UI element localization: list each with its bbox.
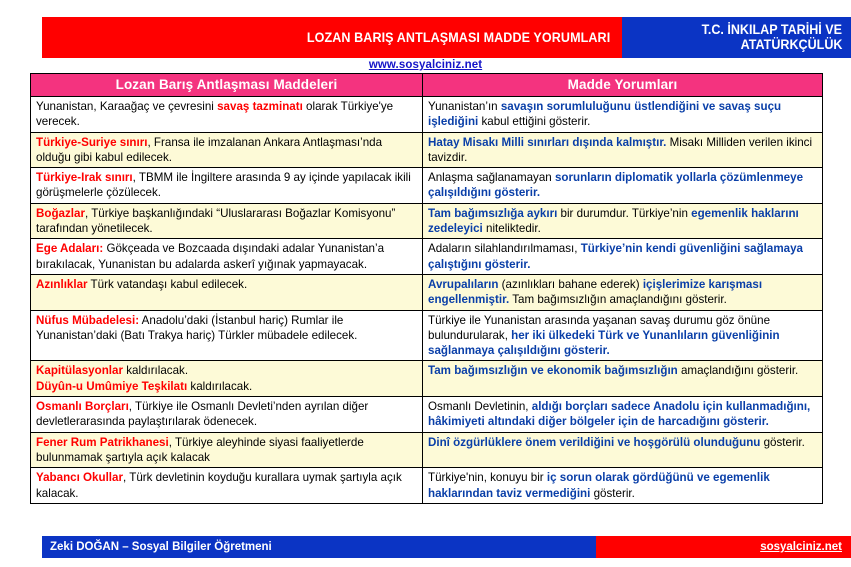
- article-cell-8: Kapitülasyonlar kaldırılacak.Düyûn-u Umû…: [31, 361, 423, 397]
- comment-10-seg-1: gösterir.: [760, 436, 804, 449]
- article-8-seg-0: Kapitülasyonlar: [36, 364, 123, 377]
- article-6-seg-1: Türk vatandaşı kabul edilecek.: [88, 278, 248, 291]
- comment-10-seg-0: Dinî özgürlüklere önem verildiğini ve ho…: [428, 436, 760, 449]
- table-row: Türkiye-Irak sınırı, TBMM ile İngiltere …: [31, 168, 823, 204]
- comment-cell-11: Türkiye'nin, konuyu bir iç sorun olarak …: [423, 468, 823, 504]
- comment-6-seg-3: Tam bağımsızlığın amaçlandığını gösterir…: [509, 293, 727, 306]
- article-2-seg-0: Türkiye-Suriye sınırı: [36, 136, 147, 149]
- comment-cell-10: Dinî özgürlüklere önem verildiğini ve ho…: [423, 432, 823, 468]
- banner-left-red: LOZAN BARIŞ ANTLAŞMASI MADDE YORUMLARI: [42, 17, 622, 58]
- column-header-articles: Lozan Barış Antlaşması Maddeleri: [31, 74, 423, 97]
- article-4-seg-0: Boğazlar: [36, 207, 85, 220]
- comment-cell-9: Osmanlı Devletinin, aldığı borçları sade…: [423, 397, 823, 433]
- article-8-seg-1: kaldırılacak.: [123, 364, 188, 377]
- article-6-seg-0: Azınlıklar: [36, 278, 88, 291]
- article-cell-4: Boğazlar, Türkiye başkanlığındaki “Ulusl…: [31, 203, 423, 239]
- table-row: Kapitülasyonlar kaldırılacak.Düyûn-u Umû…: [31, 361, 823, 397]
- comment-cell-7: Türkiye ile Yunanistan arasında yaşanan …: [423, 310, 823, 361]
- table-row: Türkiye-Suriye sınırı, Fransa ile imzala…: [31, 132, 823, 168]
- article-cell-7: Nüfus Mübadelesi: Anadolu’daki (İstanbul…: [31, 310, 423, 361]
- article-9-seg-0: Osmanlı Borçları: [36, 400, 129, 413]
- comment-11-seg-0: Türkiye'nin, konuyu bir: [428, 471, 547, 484]
- article-5-seg-0: Ege Adaları:: [36, 242, 103, 255]
- footer-site-link[interactable]: sosyalciniz.net: [760, 541, 842, 553]
- table-row: Fener Rum Patrikhanesi, Türkiye aleyhind…: [31, 432, 823, 468]
- comment-4-seg-1: bir durumdur. Türkiye’nin: [557, 207, 691, 220]
- article-cell-10: Fener Rum Patrikhanesi, Türkiye aleyhind…: [31, 432, 423, 468]
- article-cell-6: Azınlıklar Türk vatandaşı kabul edilecek…: [31, 274, 423, 310]
- article-4-seg-1: , Türkiye başkanlığındaki “Uluslararası …: [36, 207, 395, 235]
- site-url-link[interactable]: www.sosyalciniz.net: [0, 59, 851, 71]
- article-cell-3: Türkiye-Irak sınırı, TBMM ile İngiltere …: [31, 168, 423, 204]
- comment-cell-4: Tam bağımsızlığa aykırı bir durumdur. Tü…: [423, 203, 823, 239]
- comment-8-seg-1: amaçlandığını gösterir.: [678, 364, 799, 377]
- lausanne-articles-table: Lozan Barış Antlaşması Maddeleri Madde Y…: [30, 73, 823, 504]
- article-8-seg-3: Düyûn-u Umûmiye Teşkilatı: [36, 380, 187, 393]
- comment-cell-1: Yunanistan’ın savaşın sorumluluğunu üstl…: [423, 97, 823, 133]
- table-row: Osmanlı Borçları, Türkiye ile Osmanlı De…: [31, 397, 823, 433]
- comment-3-seg-0: Anlaşma sağlanamayan: [428, 171, 555, 184]
- comment-1-seg-2: kabul ettiğini gösterir.: [478, 115, 590, 128]
- banner-subject-line1: T.C. İNKILAP TARİHİ VE: [702, 23, 842, 37]
- banner-main-title: LOZAN BARIŞ ANTLAŞMASI MADDE YORUMLARI: [307, 30, 610, 45]
- article-10-seg-0: Fener Rum Patrikhanesi: [36, 436, 169, 449]
- table-row: Boğazlar, Türkiye başkanlığındaki “Ulusl…: [31, 203, 823, 239]
- table-row: Yunanistan, Karaağaç ve çevresini savaş …: [31, 97, 823, 133]
- comment-5-seg-0: Adaların silahlandırılmaması,: [428, 242, 581, 255]
- comment-6-seg-0: Avrupalıların: [428, 278, 498, 291]
- comment-9-seg-0: Osmanlı Devletinin,: [428, 400, 532, 413]
- article-cell-5: Ege Adaları: Gökçeada ve Bozcaada dışınd…: [31, 239, 423, 275]
- table-header-row: Lozan Barış Antlaşması Maddeleri Madde Y…: [31, 74, 823, 97]
- article-11-seg-0: Yabancı Okullar: [36, 471, 123, 484]
- article-cell-1: Yunanistan, Karaağaç ve çevresini savaş …: [31, 97, 423, 133]
- article-3-seg-0: Türkiye-Irak sınırı: [36, 171, 133, 184]
- comment-cell-2: Hatay Misakı Milli sınırları dışında kal…: [423, 132, 823, 168]
- table-row: Azınlıklar Türk vatandaşı kabul edilecek…: [31, 274, 823, 310]
- page-footer: Zeki DOĞAN – Sosyal Bilgiler Öğretmeni s…: [42, 536, 851, 558]
- article-7-seg-0: Nüfus Mübadelesi:: [36, 314, 139, 327]
- table-row: Yabancı Okullar, Türk devletinin koyduğu…: [31, 468, 823, 504]
- comment-cell-5: Adaların silahlandırılmaması, Türkiye’ni…: [423, 239, 823, 275]
- table-body: Yunanistan, Karaağaç ve çevresini savaş …: [31, 97, 823, 504]
- comment-4-seg-0: Tam bağımsızlığa aykırı: [428, 207, 557, 220]
- comment-2-seg-0: Hatay Misakı Milli sınırları dışında kal…: [428, 136, 666, 149]
- lausanne-articles-table-wrapper: Lozan Barış Antlaşması Maddeleri Madde Y…: [30, 73, 822, 504]
- comment-cell-6: Avrupalıların (azınlıkları bahane ederek…: [423, 274, 823, 310]
- comment-4-seg-3: niteliktedir.: [483, 222, 541, 235]
- comment-cell-8: Tam bağımsızlığın ve ekonomik bağımsızlı…: [423, 361, 823, 397]
- article-1-seg-0: Yunanistan, Karaağaç ve çevresini: [36, 100, 217, 113]
- article-cell-11: Yabancı Okullar, Türk devletinin koyduğu…: [31, 468, 423, 504]
- article-1-seg-1: savaş tazminatı: [217, 100, 303, 113]
- comment-6-seg-1: (azınlıkları bahane ederek): [498, 278, 642, 291]
- banner-subject-line2: ATATÜRKÇÜLÜK: [740, 38, 842, 52]
- banner-right-blue: T.C. İNKILAP TARİHİ VE ATATÜRKÇÜLÜK: [622, 17, 851, 58]
- footer-link-band: sosyalciniz.net: [596, 536, 851, 558]
- comment-cell-3: Anlaşma sağlanamayan sorunların diplomat…: [423, 168, 823, 204]
- comment-8-seg-0: Tam bağımsızlığın ve ekonomik bağımsızlı…: [428, 364, 678, 377]
- table-row: Ege Adaları: Gökçeada ve Bozcaada dışınd…: [31, 239, 823, 275]
- comment-11-seg-2: gösterir.: [590, 487, 634, 500]
- title-banner: LOZAN BARIŞ ANTLAŞMASI MADDE YORUMLARI T…: [42, 17, 851, 58]
- table-row: Nüfus Mübadelesi: Anadolu’daki (İstanbul…: [31, 310, 823, 361]
- article-cell-9: Osmanlı Borçları, Türkiye ile Osmanlı De…: [31, 397, 423, 433]
- footer-author-band: Zeki DOĞAN – Sosyal Bilgiler Öğretmeni: [42, 536, 596, 558]
- comment-1-seg-0: Yunanistan’ın: [428, 100, 501, 113]
- footer-author-text: Zeki DOĞAN – Sosyal Bilgiler Öğretmeni: [50, 541, 272, 553]
- article-cell-2: Türkiye-Suriye sınırı, Fransa ile imzala…: [31, 132, 423, 168]
- column-header-comments: Madde Yorumları: [423, 74, 823, 97]
- article-8-seg-4: kaldırılacak.: [187, 380, 252, 393]
